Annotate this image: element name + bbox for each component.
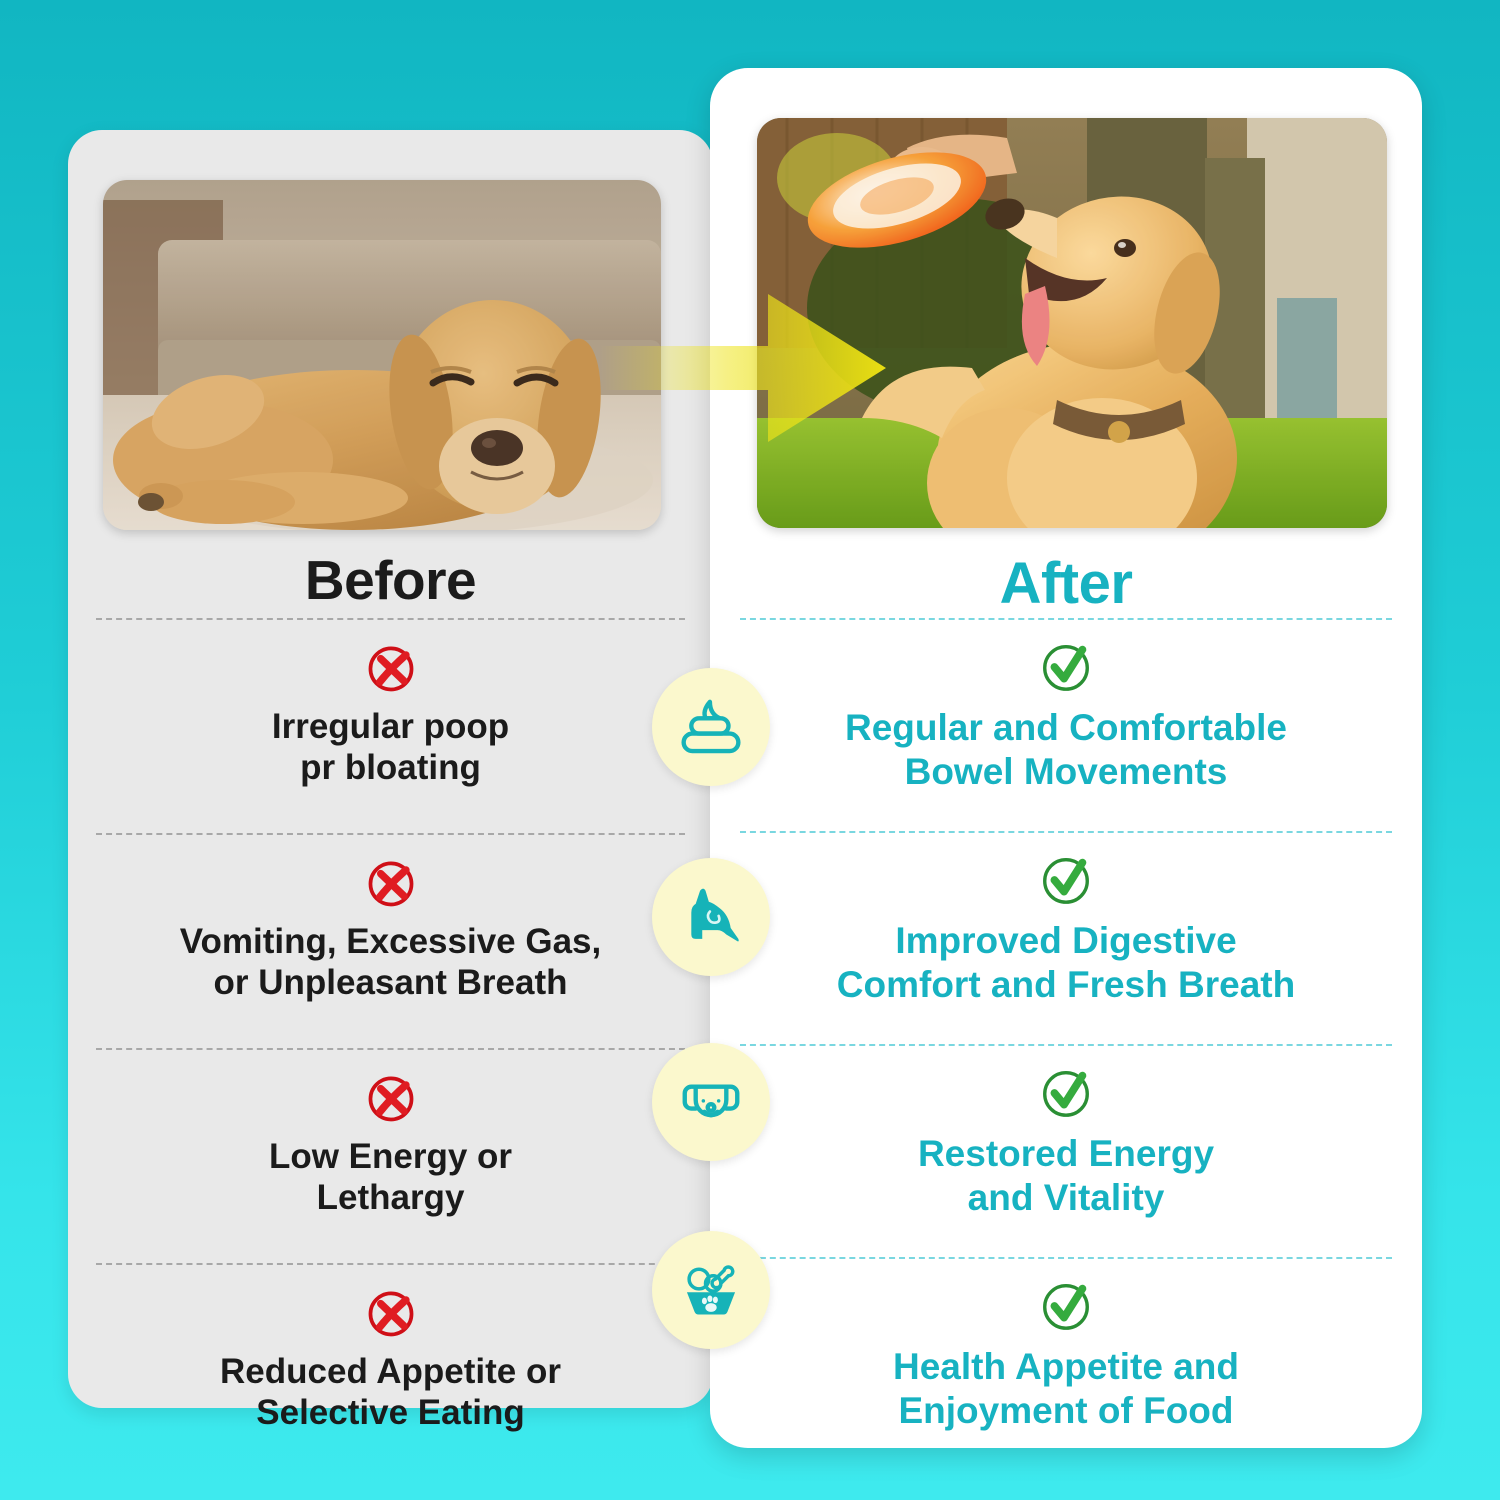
- list-item: Health Appetite and Enjoyment of Food: [710, 1277, 1422, 1470]
- divider: [740, 1257, 1392, 1259]
- list-item-label: Restored Energy and Vitality: [740, 1132, 1392, 1221]
- list-item-label: Regular and Comfortable Bowel Movements: [740, 706, 1392, 795]
- list-item: Improved Digestive Comfort and Fresh Bre…: [710, 851, 1422, 1044]
- list-item-label: Irregular poop pr bloating: [96, 706, 685, 789]
- list-item-label: Improved Digestive Comfort and Fresh Bre…: [740, 919, 1392, 1008]
- list-item-label: Health Appetite and Enjoyment of Food: [740, 1345, 1392, 1434]
- badge-poop: [652, 668, 770, 786]
- divider: [96, 833, 685, 835]
- check-circle-icon: [1037, 851, 1095, 909]
- badge-food-bowl: [652, 1231, 770, 1349]
- divider: [96, 618, 685, 620]
- list-item: Regular and Comfortable Bowel Movements: [710, 638, 1422, 831]
- list-item: Vomiting, Excessive Gas, or Unpleasant B…: [68, 855, 713, 1048]
- before-heading: Before: [68, 548, 713, 612]
- check-circle-icon: [1037, 1277, 1095, 1335]
- divider: [740, 1044, 1392, 1046]
- divider: [740, 618, 1392, 620]
- divider: [96, 1048, 685, 1050]
- check-circle-icon: [1037, 638, 1095, 696]
- list-item-label: Reduced Appetite or Selective Eating: [96, 1351, 685, 1434]
- cross-circle-icon: [363, 640, 419, 696]
- food-bowl-bone-icon: [676, 1255, 746, 1325]
- list-item: Reduced Appetite or Selective Eating: [68, 1285, 713, 1478]
- after-list: Regular and Comfortable Bowel Movements …: [710, 618, 1422, 1470]
- check-circle-icon: [1037, 1064, 1095, 1122]
- list-item: Irregular poop pr bloating: [68, 640, 713, 833]
- cross-circle-icon: [363, 1070, 419, 1126]
- list-item-label: Low Energy or Lethargy: [96, 1136, 685, 1219]
- poop-icon: [676, 692, 746, 762]
- before-list: Irregular poop pr bloating Vomiting, Exc…: [68, 618, 713, 1478]
- happy-dog-photo: [757, 118, 1387, 528]
- cross-circle-icon: [363, 1285, 419, 1341]
- list-item: Low Energy or Lethargy: [68, 1070, 713, 1263]
- list-item: Restored Energy and Vitality: [710, 1064, 1422, 1257]
- dog-face-icon: [676, 1067, 746, 1137]
- badge-dog-face: [652, 1043, 770, 1161]
- divider: [96, 1263, 685, 1265]
- cross-circle-icon: [363, 855, 419, 911]
- dog-digestion-icon: [676, 882, 746, 952]
- infographic-stage: Before After Irregular poop pr bloating …: [0, 0, 1500, 1500]
- after-heading: After: [710, 550, 1422, 617]
- tired-dog-photo: [103, 180, 661, 530]
- badge-dog-digestion: [652, 858, 770, 976]
- list-item-label: Vomiting, Excessive Gas, or Unpleasant B…: [96, 921, 685, 1004]
- divider: [740, 831, 1392, 833]
